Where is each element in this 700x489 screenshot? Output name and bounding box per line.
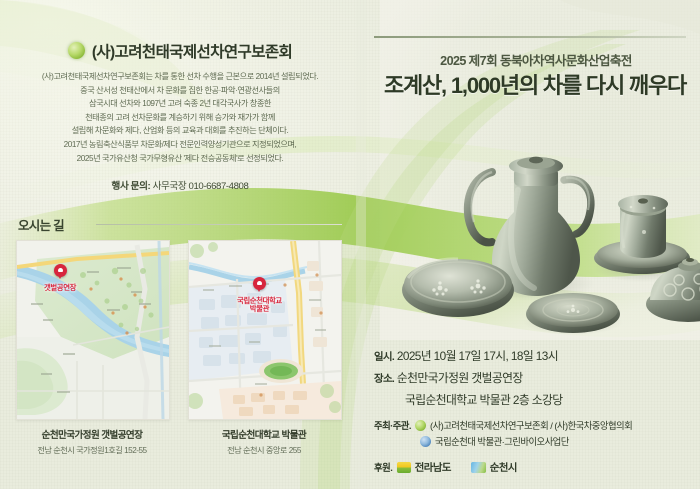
sponsor-name-1: 전라남도 <box>415 463 451 474</box>
pin-head-icon <box>54 264 67 277</box>
contact-value: 사무국장 010-6687-4808 <box>153 181 249 192</box>
description-line: 2025년 국가유산청 국가무형유산 '제다 전승공동체'로 선정되었다. <box>14 152 346 166</box>
contact-label: 행사 문의: <box>112 181 151 192</box>
leaf-logo-icon <box>415 420 426 431</box>
sponsor-block: 후원. 전라남도 순천시 <box>374 459 700 474</box>
university-logo-icon <box>420 436 431 447</box>
pin-head-icon <box>253 277 266 290</box>
place-value-1: 순천만국가정원 갯벌공연장 <box>397 371 523 385</box>
map-caption-getbeol: 순천만국가정원 갯벌공연장 전남 순천시 국가정원1호길 152-55 <box>16 427 168 456</box>
jeollanamdo-logo-icon <box>397 462 411 473</box>
directions-header: 오시는 길 <box>18 215 348 235</box>
description-line: 2017년 농림축산식품부 차문화/제다 전문인력양성기관으로 지정되었으며, <box>14 138 346 152</box>
map-pin-museum[interactable]: 국립순천대학교 박물관 <box>237 277 282 314</box>
event-poster: (사)고려천태국제선차연구보존회 (사)고려천태국제선차연구보존회는 차를 통한… <box>0 0 700 489</box>
title-divider <box>374 36 686 38</box>
left-column: (사)고려천태국제선차연구보존회 (사)고려천태국제선차연구보존회는 차를 통한… <box>0 0 360 489</box>
map-place-name: 순천만국가정원 갯벌공연장 <box>16 427 168 441</box>
place-value-2: 국립순천대학교 박물관 2층 소강당 <box>405 393 563 407</box>
host-line-1: 주최·주관. (사)고려천태국제선차연구보존회 / (사)한국차중앙협의회 <box>374 418 700 434</box>
host-value-2: 국립순천대 박물관·그린바이오사업단 <box>435 436 569 447</box>
pin-label: 국립순천대학교 박물관 <box>237 297 282 314</box>
map-caption-museum: 국립순천대학교 박물관 전남 순천시 중앙로 255 <box>188 427 340 456</box>
contact-line: 행사 문의: 사무국장 010-6687-4808 <box>0 178 360 192</box>
organization-name: (사)고려천태국제선차연구보존회 <box>92 40 292 62</box>
date-value: 2025년 10월 17일 17시, 18일 13시 <box>397 349 558 363</box>
description-line: 중국 산서성 천태산에서 차 문화를 집한 한공·파악·연광선사들의 <box>14 84 346 98</box>
right-column: 2025 제7회 동북아차역사문화산업축전 조계산, 1,000년의 차를 다시… <box>370 0 700 489</box>
directions-title: 오시는 길 <box>18 215 64 234</box>
pin-label-line2: 박물관 <box>250 304 269 313</box>
event-headline: 조계산, 1,000년의 차를 다시 깨우다 <box>370 68 700 100</box>
map-image-getbeol[interactable]: 갯벌공연장 <box>16 240 170 420</box>
description-line: 삼국시대 선차와 1097년 고려 숙종 2년 대각국사가 창종한 <box>14 97 346 111</box>
directions-rule <box>96 224 342 225</box>
date-label: 일시. <box>374 352 394 363</box>
host-block: 주최·주관. (사)고려천태국제선차연구보존회 / (사)한국차중앙협의회 국립… <box>374 418 700 450</box>
map-pin-getbeol[interactable]: 갯벌공연장 <box>44 264 76 292</box>
info-row-place: 장소. 순천만국가정원 갯벌공연장 <box>374 368 700 390</box>
host-line-2: 국립순천대 박물관·그린바이오사업단 <box>374 434 700 450</box>
organization-header: (사)고려천태국제선차연구보존회 <box>0 40 360 62</box>
pin-label: 갯벌공연장 <box>44 284 76 292</box>
map-image-museum[interactable]: 국립순천대학교 박물관 <box>188 240 342 420</box>
host-value-1: (사)고려천태국제선차연구보존회 / (사)한국차중앙협의회 <box>430 420 632 431</box>
place-label: 장소. <box>374 374 394 385</box>
info-row-date: 일시. 2025년 10월 17일 17시, 18일 13시 <box>374 346 700 368</box>
map-place-address: 전남 순천시 국가정원1호길 152-55 <box>16 444 168 456</box>
info-row-place-2: 국립순천대학교 박물관 2층 소강당 <box>374 390 700 410</box>
suncheon-logo-icon <box>471 462 486 473</box>
organization-description: (사)고려천태국제선차연구보존회는 차를 통한 선차 수행을 근본으로 2014… <box>14 70 346 165</box>
map-card-museum[interactable]: 국립순천대학교 박물관 국립순천대학교 박물관 전남 순천시 중앙로 255 <box>188 240 340 456</box>
sponsor-name-2: 순천시 <box>490 463 517 474</box>
maps-container: 갯벌공연장 순천만국가정원 갯벌공연장 전남 순천시 국가정원1호길 152-5… <box>16 240 346 456</box>
map-card-getbeol[interactable]: 갯벌공연장 순천만국가정원 갯벌공연장 전남 순천시 국가정원1호길 152-5… <box>16 240 168 456</box>
description-line: (사)고려천태국제선차연구보존회는 차를 통한 선차 수행을 근본으로 2014… <box>14 70 346 84</box>
sponsor-label: 후원. <box>374 462 392 473</box>
description-line: 설립해 차문화와 제다, 산업화 등의 교육과 대회를 추진하는 단체이다. <box>14 124 346 138</box>
event-info-block: 일시. 2025년 10월 17일 17시, 18일 13시 장소. 순천만국가… <box>374 346 700 474</box>
map-place-address: 전남 순천시 중앙로 255 <box>188 444 340 456</box>
description-line: 천태종의 고려 선차문화를 계승하기 위해 승가와 재가가 함께 <box>14 111 346 125</box>
map-place-name: 국립순천대학교 박물관 <box>188 427 340 441</box>
host-label: 주최·주관. <box>374 420 411 431</box>
leaf-logo-icon <box>68 42 85 59</box>
event-subtitle: 2025 제7회 동북아차역사문화산업축전 <box>378 50 694 69</box>
